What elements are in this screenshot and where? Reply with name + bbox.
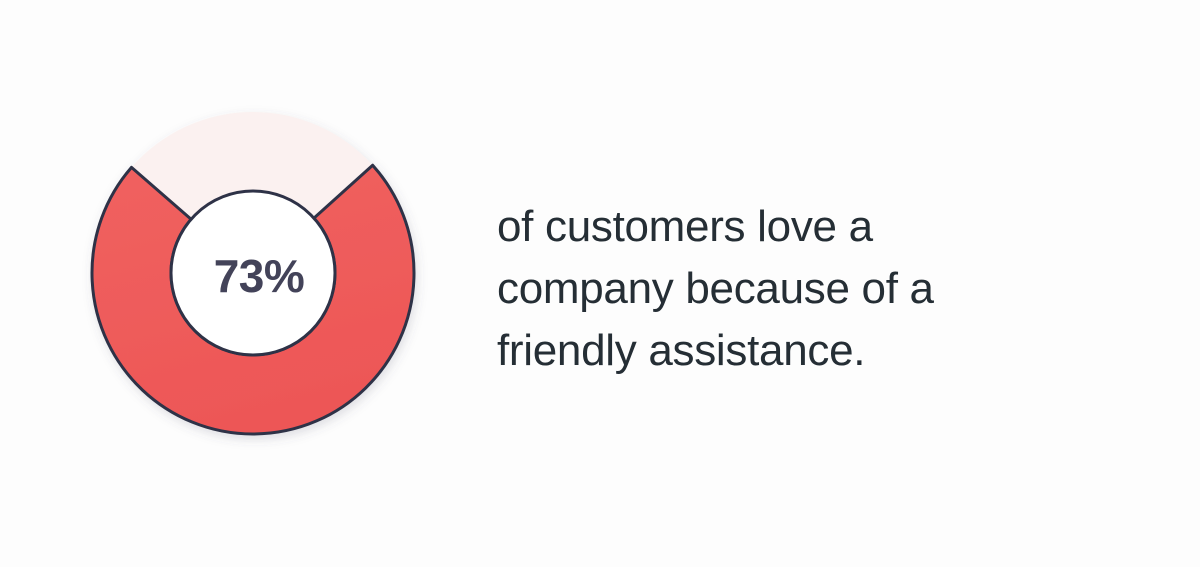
- caption-line-1: of customers love a: [497, 196, 1077, 258]
- donut-inner-circle: [171, 191, 335, 355]
- caption-text: of customers love a company because of a…: [497, 196, 1077, 382]
- caption-line-3: friendly assistance.: [497, 320, 1077, 382]
- donut-chart: 73%: [70, 75, 440, 475]
- stat-figure: 73% of customers love a company because …: [0, 0, 1200, 567]
- caption-line-2: company because of a: [497, 258, 1077, 320]
- donut-chart-svg: [70, 75, 440, 475]
